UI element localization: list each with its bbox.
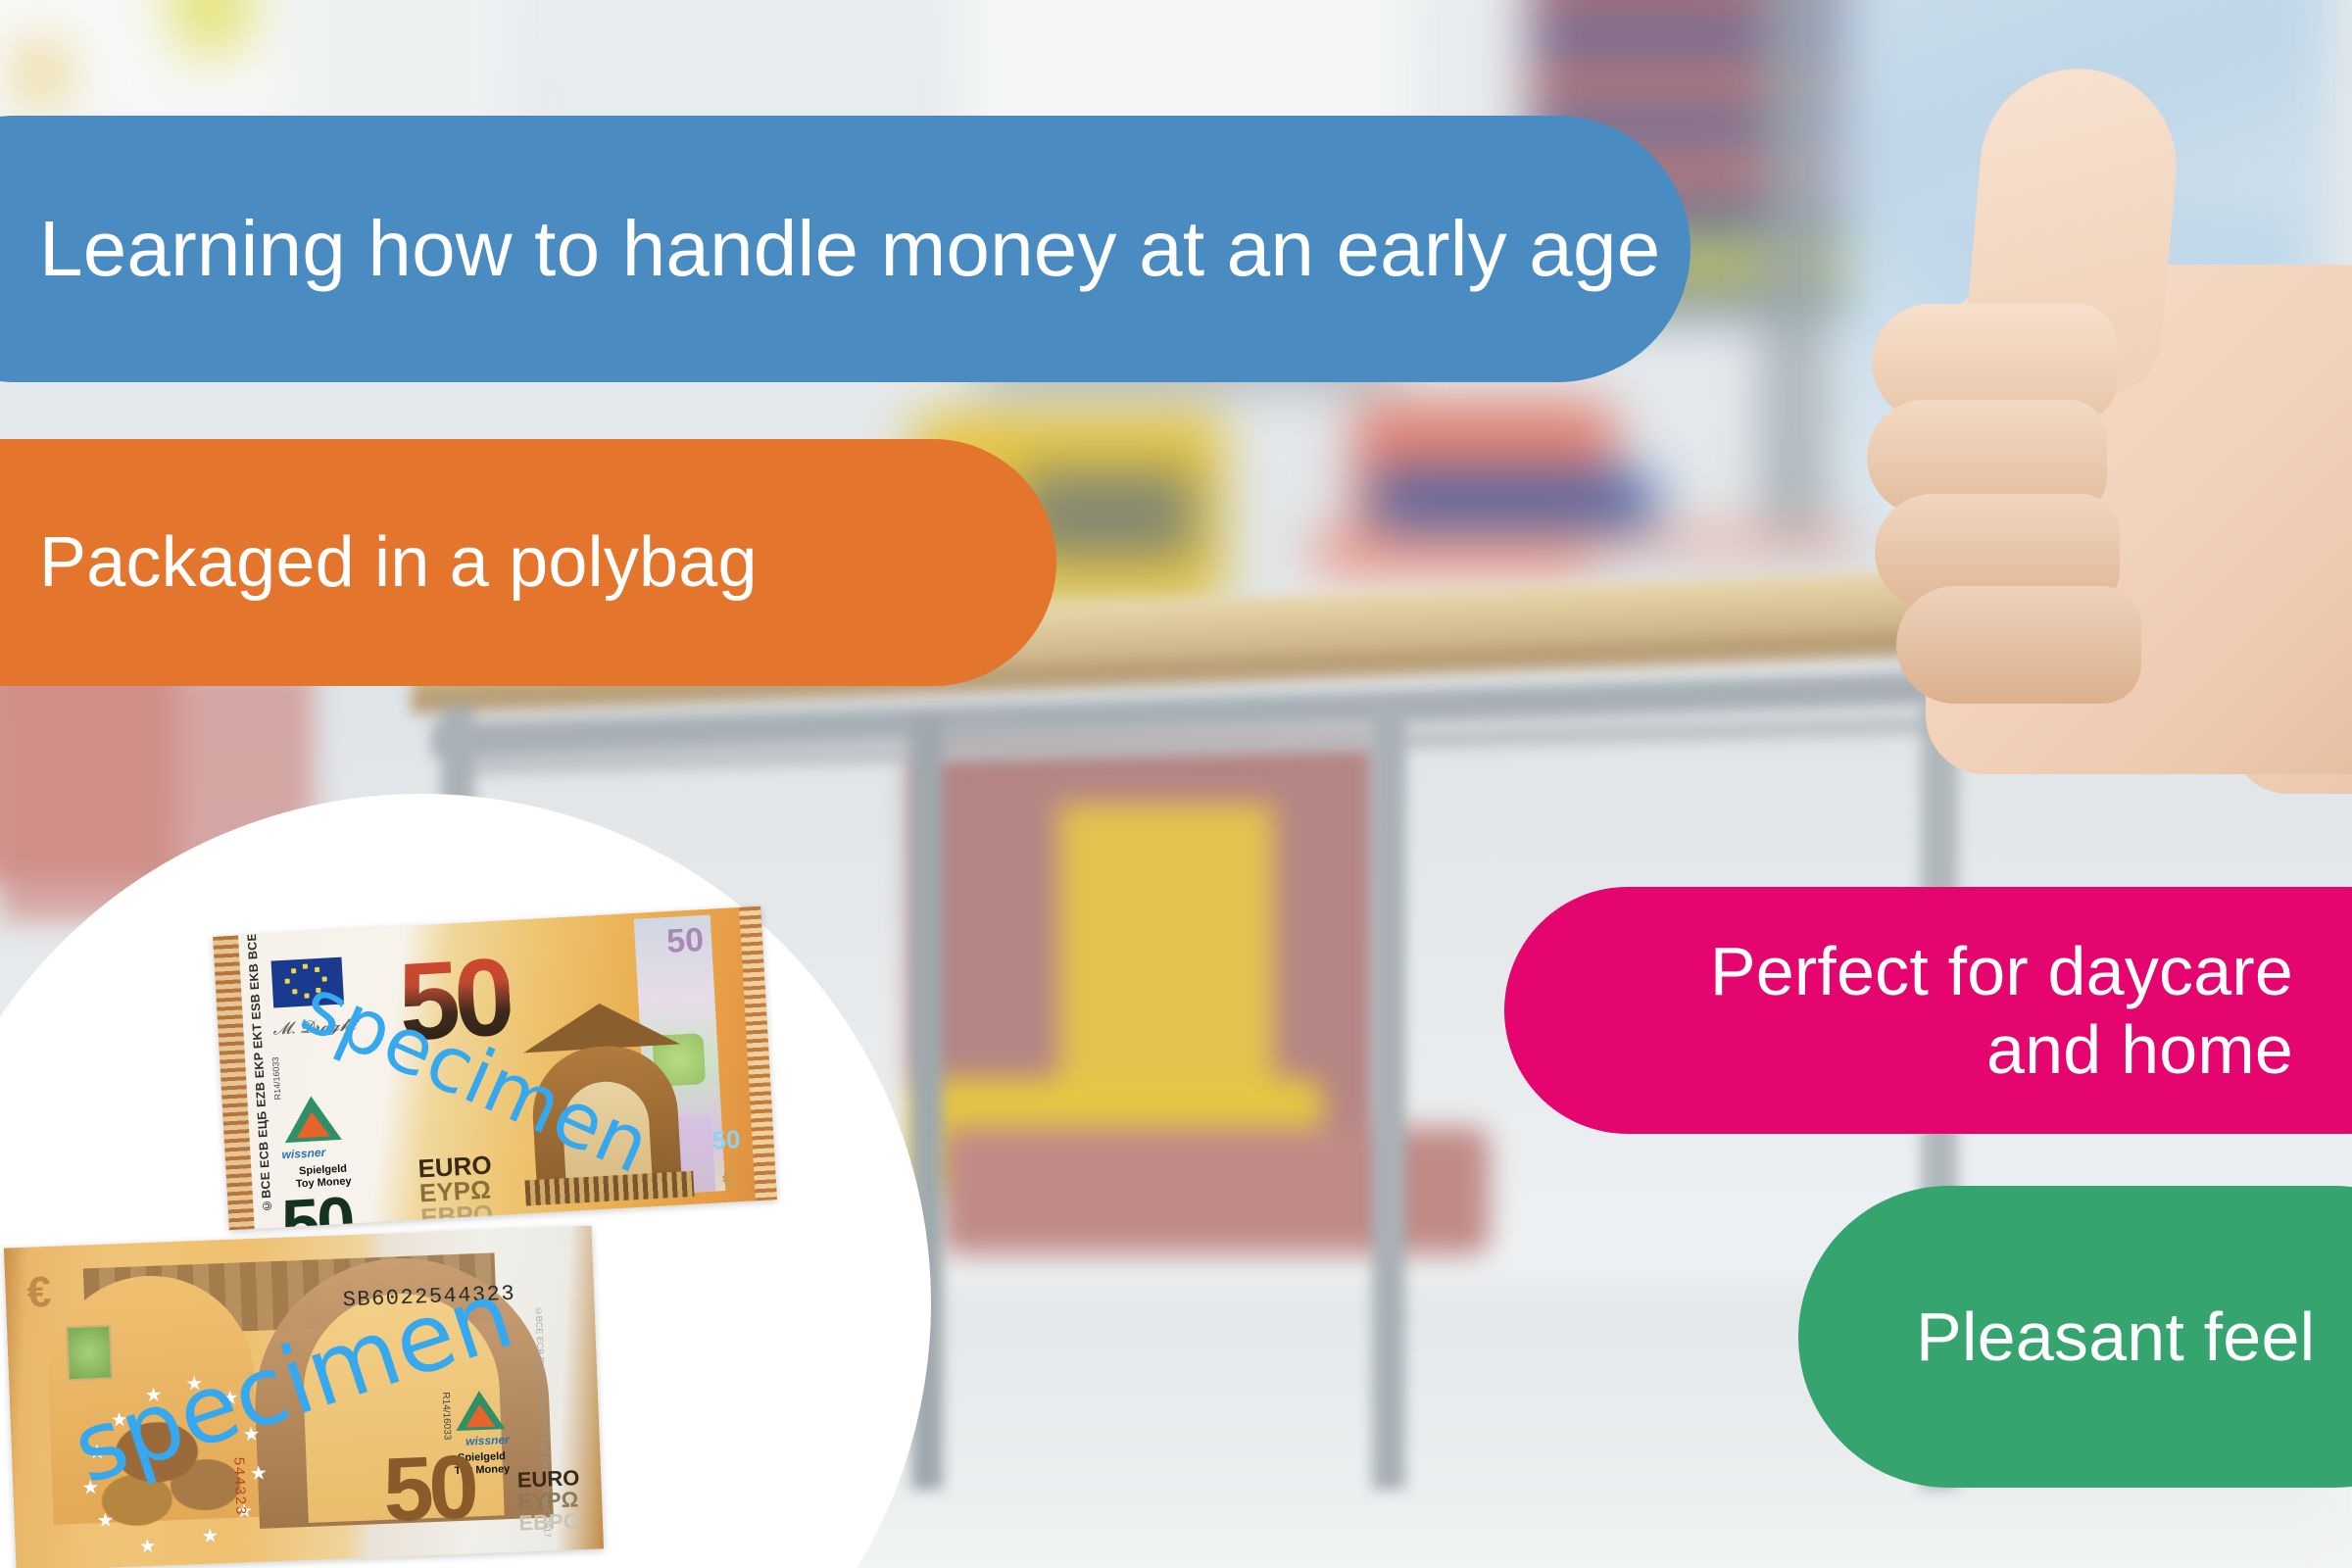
feature-banner-daycare-label: Perfect for daycare and home [1710, 932, 2293, 1089]
feature-banner-pleasant: Pleasant feel [1798, 1186, 2352, 1488]
euro-symbol: € [26, 1268, 52, 1318]
feature-banner-learning: Learning how to handle money at an early… [0, 116, 1690, 382]
feature-banner-pleasant-label: Pleasant feel [1916, 1299, 2315, 1374]
eu-stars: ★ ★ ★ ★ ★ ★ ★ ★ ★ ★ ★ ★ [38, 1364, 300, 1568]
feature-banner-polybag-label: Packaged in a polybag [39, 524, 758, 601]
banknote-value-large: 50 [396, 942, 513, 1057]
banknote-back: ★ ★ ★ ★ ★ ★ ★ ★ ★ ★ ★ ★ € SB6022544323 5… [4, 1226, 604, 1568]
architecture-motif [512, 999, 699, 1209]
currency-names: EURO EYPΩ EBPO [516, 1467, 581, 1534]
eu-flag-icon [271, 957, 345, 1008]
banknote-holo-value: 50 [665, 921, 705, 961]
wissner-logo-icon [455, 1390, 506, 1435]
banknote-value-bottom-left: 50 [280, 1186, 355, 1230]
article-code: R14/16033 [440, 1392, 453, 1440]
feature-banner-daycare: Perfect for daycare and home [1504, 887, 2352, 1134]
thumbs-up-hand-icon [1808, 29, 2352, 784]
wissner-logo-icon [282, 1095, 342, 1147]
feature-banner-polybag: Packaged in a polybag [0, 439, 1056, 686]
banknote-front: 50 𝓜. 𝓓𝓻𝓪𝓰𝓱𝓲 ©BCE ECB EЦБ EZB EKP EKT ES… [213, 906, 777, 1231]
article-code: R14/16033 [270, 1056, 288, 1101]
euro-symbol: € [721, 1162, 740, 1197]
currency-name-cyrillic: EBPO [518, 1510, 581, 1534]
feature-banner-learning-label: Learning how to handle money at an early… [39, 207, 1660, 291]
brand-name: wissner [281, 1146, 325, 1161]
marketing-banner: 50 𝓜. 𝓓𝓻𝓪𝓰𝓱𝓲 ©BCE ECB EЦБ EZB EKP EKT ES… [0, 0, 2352, 1568]
serial-number-vertical: 544323 [229, 1456, 248, 1516]
banknote-value-corner: 50 [711, 1124, 742, 1156]
banknote-value-large: 50 [382, 1442, 476, 1535]
